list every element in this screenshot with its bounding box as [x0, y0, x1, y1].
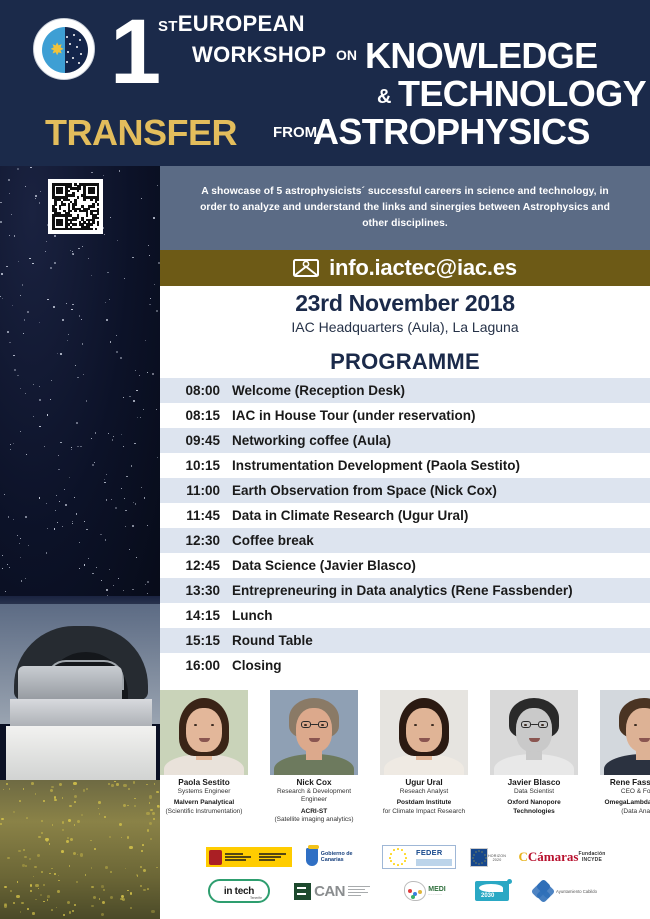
2030-logo: 2030 [470, 878, 514, 904]
camaras-label: CCámaras [519, 850, 579, 864]
programme-row: 10:15Instrumentation Development (Paola … [160, 453, 650, 478]
night-sky-image [0, 166, 160, 626]
speaker-card: Paola SestitoSystems EngineerMalvern Pan… [160, 690, 248, 816]
speaker-name: Nick Cox [270, 778, 358, 788]
speaker-caption: Rene FassbenderCEO & FounderOmegaLambdaT… [600, 778, 650, 816]
programme-row: 12:45Data Science (Javier Blasco) [160, 553, 650, 578]
feder-subbar [416, 859, 452, 866]
speaker-card: Rene FassbenderCEO & FounderOmegaLambdaT… [600, 690, 650, 816]
programme-label: Instrumentation Development (Paola Sesti… [232, 458, 520, 473]
ayuntamiento-logo: Ayuntamiento Cabildo [528, 878, 602, 904]
programme-time: 11:00 [160, 483, 232, 498]
programme-time: 16:00 [160, 658, 232, 673]
speaker-card: Ugur UralReseach AnalystPostdam Institut… [380, 690, 468, 816]
programme-row: 12:30Coffee break [160, 528, 650, 553]
speaker-organisation: Malvern Panalytical [160, 799, 248, 807]
iac-logo: ✸ [33, 18, 95, 80]
camaras-word: Cámaras [528, 849, 579, 864]
programme-row: 13:30Entrepreneuring in Data analytics (… [160, 578, 650, 603]
programme-label: Networking coffee (Aula) [232, 433, 391, 448]
medi-logo: MEDI ············· [394, 878, 456, 904]
programme-label: IAC in House Tour (under reservation) [232, 408, 476, 423]
europe-label: EUROPEAN [178, 11, 305, 36]
workshop-label: WORKSHOP [192, 42, 326, 68]
programme-label: Welcome (Reception Desk) [232, 383, 405, 398]
title-line-1: STEUROPEAN [158, 11, 305, 37]
speaker-organisation-detail: (Satellite imaging analytics) [270, 816, 358, 824]
speaker-caption: Javier BlascoData ScientistOxford Nanopo… [490, 778, 578, 816]
eu-stars [389, 848, 407, 866]
programme-label: Round Table [232, 633, 313, 648]
speaker-card: Javier BlascoData ScientistOxford Nanopo… [490, 690, 578, 816]
observatory-building [6, 726, 156, 784]
speaker-organisation-detail: (Data Analytics) [600, 808, 650, 816]
transfer-label: TRANSFER [45, 112, 237, 154]
speaker-name: Ugur Ural [380, 778, 468, 788]
poster-header: ✸ 1 STEUROPEAN WORKSHOP ON KNOWLEDGE [0, 0, 650, 166]
gobierno-espana-logo [206, 847, 292, 867]
programme-row: 08:15IAC in House Tour (under reservatio… [160, 403, 650, 428]
can-logo: CAN [284, 879, 380, 903]
speaker-caption: Ugur UralReseach AnalystPostdam Institut… [380, 778, 468, 816]
programme-time: 14:15 [160, 608, 232, 623]
2030-badge: 2030 [475, 881, 509, 901]
medi-text: MEDI ············· [428, 886, 446, 897]
on-label: ON [336, 47, 357, 63]
intech-label: in tech [224, 886, 254, 897]
intech-sub-label: Tenerife [250, 896, 262, 900]
programme-label: Data Science (Javier Blasco) [232, 558, 416, 573]
programme-time: 09:45 [160, 433, 232, 448]
medi-sub-label: ············· [428, 893, 446, 897]
speaker-photo [600, 690, 650, 775]
ayuntamiento-label: Ayuntamiento Cabildo [556, 889, 597, 894]
programme-row: 16:00Closing [160, 653, 650, 678]
programme-row: 08:00Welcome (Reception Desk) [160, 378, 650, 403]
programme-label: Lunch [232, 608, 273, 623]
description-text: A showcase of 5 astrophysicists´ success… [195, 184, 615, 232]
event-date-block: 23rd November 2018 IAC Headquarters (Aul… [160, 290, 650, 335]
speaker-organisation: OmegaLambdaTec GmbH [600, 799, 650, 807]
programme-label: Closing [232, 658, 282, 673]
eu-stars-2 [473, 851, 486, 864]
spain-crest-icon [209, 850, 222, 865]
wave-icon [479, 884, 503, 892]
european-union-logo: HORIZON 2020 [470, 844, 506, 870]
left-image-column [0, 166, 160, 919]
speaker-organisation-detail: (Scientific Instrumentation) [160, 808, 248, 816]
contact-email-bar[interactable]: info.iactec@iac.es [160, 250, 650, 286]
feder-label: FEDER [416, 848, 452, 857]
canarias-shield-icon [306, 848, 318, 866]
programme-row: 11:45Data in Climate Research (Ugur Ural… [160, 503, 650, 528]
telescope-photo [0, 604, 160, 919]
sponsor-logos: Gobierno de Canarias FEDER [160, 838, 650, 919]
speaker-name: Paola Sestito [160, 778, 248, 788]
eu-flag-icon-2 [470, 848, 488, 867]
camaras-sub-label: Fundación INCYDE [578, 851, 605, 863]
knowledge-label: KNOWLEDGE [365, 35, 598, 77]
speaker-organisation: ACRI-ST [270, 808, 358, 816]
astrophysics-label: ASTROPHYSICS [313, 111, 590, 153]
title-block: 1 STEUROPEAN WORKSHOP ON KNOWLEDGE & TEC… [100, 0, 650, 166]
speaker-caption: Paola SestitoSystems EngineerMalvern Pan… [160, 778, 248, 816]
speaker-name: Rene Fassbender [600, 778, 650, 788]
programme-label: Entrepreneuring in Data analytics (Rene … [232, 583, 573, 598]
event-date: 23rd November 2018 [160, 290, 650, 317]
speaker-role: CEO & Founder [600, 788, 650, 796]
programme-time: 12:45 [160, 558, 232, 573]
programme-row: 11:00Earth Observation from Space (Nick … [160, 478, 650, 503]
programme-list: 08:00Welcome (Reception Desk)08:15IAC in… [160, 378, 650, 678]
speaker-organisation: Oxford Nanopore Technologies [490, 799, 578, 816]
gobierno-canarias-label: Gobierno de Canarias [321, 851, 368, 863]
eu-programme-label: HORIZON 2020 [488, 854, 506, 862]
ordinal-suffix: ST [158, 18, 178, 35]
speaker-photo [380, 690, 468, 775]
qr-code[interactable] [48, 179, 103, 234]
programme-time: 13:30 [160, 583, 232, 598]
from-label: FROM [273, 124, 317, 141]
speaker-name: Javier Blasco [490, 778, 578, 788]
event-location: IAC Headquarters (Aula), La Laguna [160, 319, 650, 335]
iac-logo-inner: ✸ [42, 27, 88, 73]
programme-row: 15:15Round Table [160, 628, 650, 653]
programme-time: 08:00 [160, 383, 232, 398]
star-icon: ✸ [50, 43, 64, 57]
programme-time: 11:45 [160, 508, 232, 523]
intech-logo: in tech Tenerife [208, 879, 270, 903]
sponsor-row-2: in tech Tenerife CAN MEDI [160, 876, 650, 906]
speaker-role: Reseach Analyst [380, 788, 468, 796]
canary-islands-map-icon [404, 881, 426, 901]
speaker-card: Nick CoxResearch & Development EngineerA… [270, 690, 358, 825]
poster-root: ✸ 1 STEUROPEAN WORKSHOP ON KNOWLEDGE [0, 0, 650, 919]
programme-time: 10:15 [160, 458, 232, 473]
envelope-icon [293, 259, 319, 277]
hillside-vegetation [0, 780, 160, 919]
feder-text: FEDER [413, 846, 455, 868]
ministry-text-lines-2 [259, 853, 290, 861]
2030-dot-icon [507, 879, 512, 884]
speaker-photo [490, 690, 578, 775]
camaras-logo: CCámaras Fundación INCYDE [520, 845, 604, 869]
speaker-organisation: Postdam Institute [380, 799, 468, 807]
speaker-role: Systems Engineer [160, 788, 248, 796]
speaker-photo [270, 690, 358, 775]
programme-heading: PROGRAMME [160, 349, 650, 375]
gobierno-de-canarias-logo: Gobierno de Canarias [306, 846, 368, 868]
ministry-text-lines [225, 853, 256, 861]
medi-label: MEDI [428, 886, 446, 893]
programme-label: Data in Climate Research (Ugur Ural) [232, 508, 468, 523]
programme-label: Earth Observation from Space (Nick Cox) [232, 483, 497, 498]
speakers-strip: Paola SestitoSystems EngineerMalvern Pan… [160, 690, 650, 820]
programme-time: 15:15 [160, 633, 232, 648]
flower-icon [533, 881, 553, 901]
ordinal-number: 1 [110, 6, 157, 98]
email-address[interactable]: info.iactec@iac.es [329, 255, 517, 281]
speaker-role: Data Scientist [490, 788, 578, 796]
can-text-lines [348, 886, 370, 896]
feder-logo: FEDER [382, 845, 456, 869]
programme-row: 14:15Lunch [160, 603, 650, 628]
speaker-caption: Nick CoxResearch & Development EngineerA… [270, 778, 358, 825]
programme-label: Coffee break [232, 533, 314, 548]
speaker-organisation-detail: for Climate Impact Research [380, 808, 468, 816]
speaker-photo [160, 690, 248, 775]
can-label: CAN [314, 883, 345, 900]
technology-label: TECHNOLOGY [398, 73, 646, 115]
programme-row: 09:45Networking coffee (Aula) [160, 428, 650, 453]
stars-pattern [64, 33, 84, 67]
dome-body [10, 699, 152, 729]
2030-label: 2030 [481, 893, 494, 899]
programme-time: 12:30 [160, 533, 232, 548]
description-panel: A showcase of 5 astrophysicists´ success… [160, 166, 650, 250]
ampersand-label: & [377, 86, 391, 109]
speaker-role: Research & Development Engineer [270, 788, 358, 805]
sponsor-row-1: Gobierno de Canarias FEDER [160, 843, 650, 871]
can-mark-icon [294, 883, 311, 900]
programme-time: 08:15 [160, 408, 232, 423]
